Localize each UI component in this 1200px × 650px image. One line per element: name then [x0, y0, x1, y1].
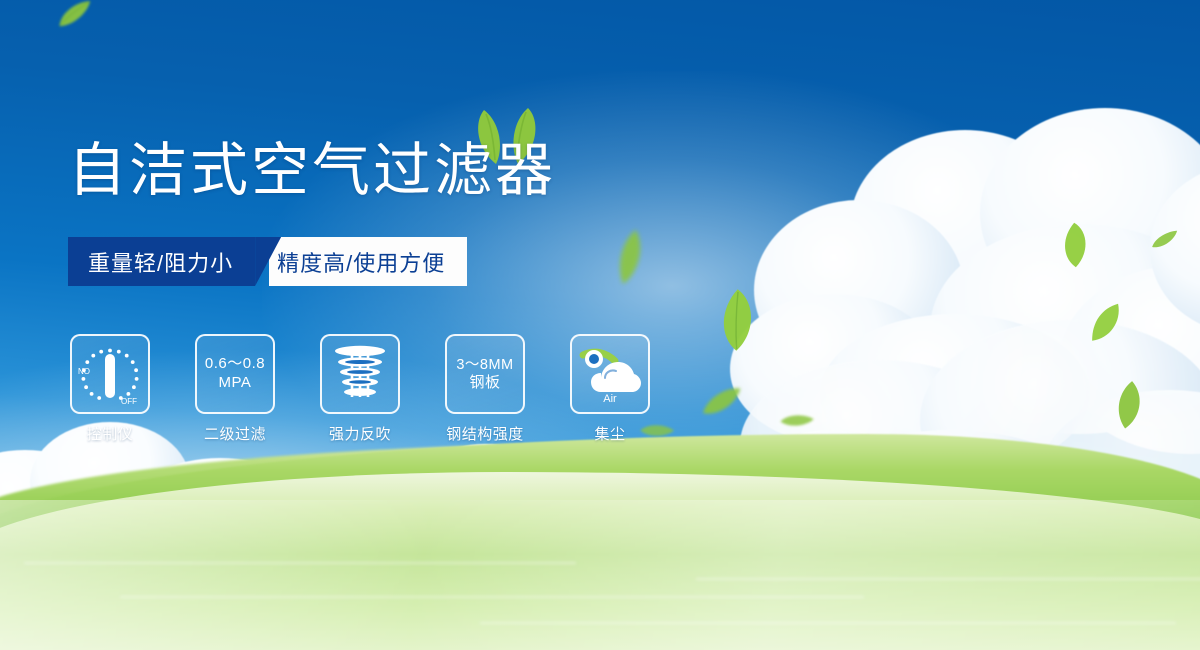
gauge-label-off: OFF	[121, 397, 137, 406]
air-cloud-icon: Air	[570, 334, 650, 414]
pressure-value: 0.6～0.8	[205, 355, 265, 374]
steel-material: 钢板	[469, 374, 500, 393]
feature-item-pressure[interactable]: 0.6～0.8 MPA 二级过滤	[195, 334, 275, 444]
steel-thickness: 3～8MM	[456, 356, 513, 374]
gauge-label-no: NO	[78, 367, 90, 376]
subtitle-right-text: 精度高/使用方便	[269, 237, 467, 286]
pressure-icon: 0.6～0.8 MPA	[195, 334, 275, 414]
page-title: 自洁式空气过滤器	[68, 142, 556, 200]
banner-content: 自洁式空气过滤器 重量轻/阻力小 精度高/使用方便	[0, 0, 1200, 650]
feature-item-steel[interactable]: 3～8MM 钢板 钢结构强度	[445, 334, 525, 444]
feature-label: 二级过滤	[204, 423, 266, 444]
feature-item-controller[interactable]: NO OFF 控制仪	[70, 334, 150, 444]
feature-label: 强力反吹	[329, 423, 391, 444]
feature-list: NO OFF 控制仪 0.6～0.8 MPA 二级过滤	[70, 334, 650, 444]
gauge-icon: NO OFF	[70, 334, 150, 414]
feature-label: 控制仪	[87, 423, 134, 444]
filter-coil-icon	[320, 334, 400, 414]
feature-item-dust[interactable]: Air 集尘	[570, 334, 650, 444]
feature-label: 集尘	[594, 423, 625, 444]
product-banner: 自洁式空气过滤器 重量轻/阻力小 精度高/使用方便	[0, 0, 1200, 650]
pressure-unit: MPA	[219, 374, 252, 393]
subtitle-bar: 重量轻/阻力小 精度高/使用方便	[68, 237, 467, 286]
steel-plate-icon: 3～8MM 钢板	[445, 334, 525, 414]
air-label: Air	[603, 393, 617, 403]
feature-label: 钢结构强度	[446, 423, 524, 444]
feature-item-backblow[interactable]: 强力反吹	[320, 334, 400, 444]
subtitle-left-text: 重量轻/阻力小	[68, 237, 255, 286]
